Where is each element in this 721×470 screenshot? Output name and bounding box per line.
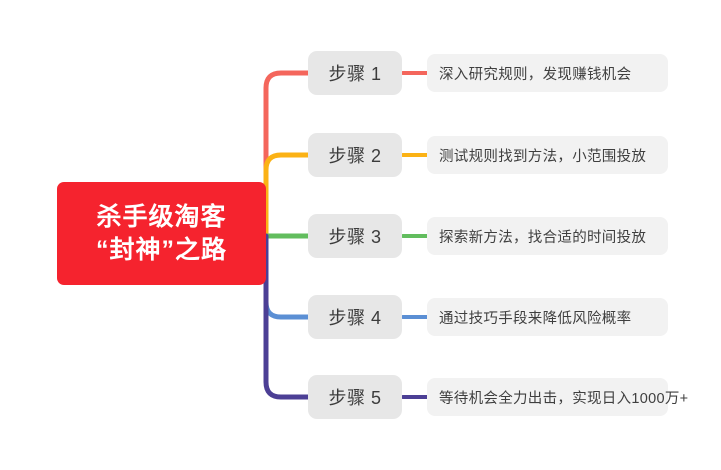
detail-label-3: 探索新方法，找合适的时间投放 bbox=[439, 226, 646, 247]
step-box-3[interactable]: 步骤 3 bbox=[308, 214, 402, 258]
detail-box-4[interactable]: 通过技巧手段来降低风险概率 bbox=[427, 298, 668, 336]
detail-label-5: 等待机会全力出击，实现日入1000万+ bbox=[439, 387, 688, 408]
detail-label-2: 测试规则找到方法，小范围投放 bbox=[439, 145, 646, 166]
root-title-line-1: 杀手级淘客 bbox=[96, 201, 226, 234]
detail-box-1[interactable]: 深入研究规则，发现赚钱机会 bbox=[427, 54, 668, 92]
step-box-4[interactable]: 步骤 4 bbox=[308, 295, 402, 339]
detail-box-5[interactable]: 等待机会全力出击，实现日入1000万+ bbox=[427, 378, 668, 416]
step-label-5: 步骤 5 bbox=[328, 384, 381, 410]
branch-line-4 bbox=[266, 236, 308, 317]
branch-line-1 bbox=[266, 73, 308, 235]
step-label-2: 步骤 2 bbox=[328, 142, 381, 168]
branch-line-2 bbox=[266, 155, 308, 235]
step-label-1: 步骤 1 bbox=[328, 60, 381, 86]
root-title-line-2: “封神”之路 bbox=[96, 234, 227, 267]
step-label-3: 步骤 3 bbox=[328, 223, 381, 249]
detail-box-2[interactable]: 测试规则找到方法，小范围投放 bbox=[427, 136, 668, 174]
root-node[interactable]: 杀手级淘客 “封神”之路 bbox=[57, 182, 266, 285]
step-box-2[interactable]: 步骤 2 bbox=[308, 133, 402, 177]
detail-label-1: 深入研究规则，发现赚钱机会 bbox=[439, 63, 631, 84]
step-box-1[interactable]: 步骤 1 bbox=[308, 51, 402, 95]
mindmap-canvas: 杀手级淘客 “封神”之路 步骤 1 深入研究规则，发现赚钱机会 步骤 2 测试规… bbox=[0, 0, 721, 470]
detail-box-3[interactable]: 探索新方法，找合适的时间投放 bbox=[427, 217, 668, 255]
branch-line-5 bbox=[266, 236, 308, 397]
step-label-4: 步骤 4 bbox=[328, 304, 381, 330]
detail-label-4: 通过技巧手段来降低风险概率 bbox=[439, 307, 631, 328]
step-box-5[interactable]: 步骤 5 bbox=[308, 375, 402, 419]
